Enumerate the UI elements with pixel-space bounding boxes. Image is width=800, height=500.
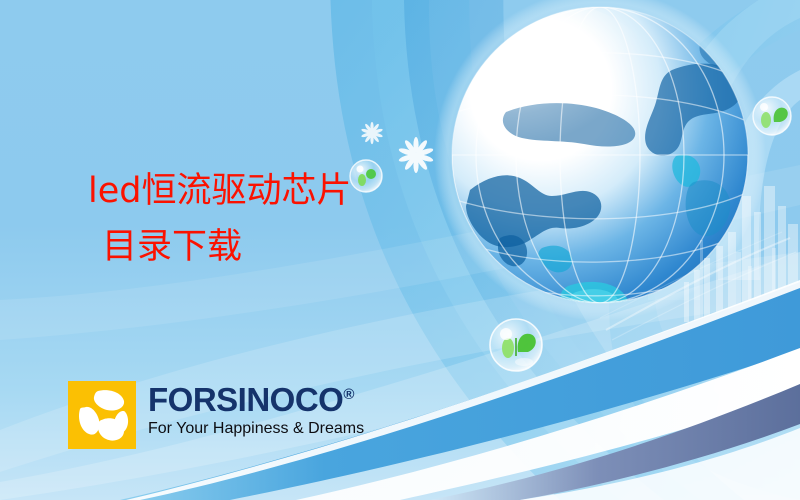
brand-logo[interactable]: FORSINOCO® For Your Happiness & Dreams <box>68 381 364 449</box>
brand-name: FORSINOCO® <box>148 383 364 417</box>
four-petal-pinwheel-icon <box>68 381 136 449</box>
brand-tagline: For Your Happiness & Dreams <box>148 419 364 439</box>
sparkle-flower-1 <box>398 137 434 173</box>
bubble-sprout-right <box>753 97 791 135</box>
brand-name-word: FORSINOCO <box>148 381 343 418</box>
brand-logo-text: FORSINOCO® For Your Happiness & Dreams <box>148 381 364 439</box>
promo-title: led恒流驱动芯片 目录下载 <box>88 163 351 275</box>
bubble-sprout-small <box>350 160 382 192</box>
promo-title-line-2: 目录下载 <box>88 219 351 275</box>
sparkle-flower-2 <box>361 122 383 144</box>
promo-banner: led恒流驱动芯片 目录下载 FORSINOCO® For Your Happi… <box>0 0 800 500</box>
promo-title-line-1: led恒流驱动芯片 <box>88 163 351 219</box>
bubble-sprout-large <box>490 319 542 371</box>
registered-trademark-icon: ® <box>343 386 354 403</box>
